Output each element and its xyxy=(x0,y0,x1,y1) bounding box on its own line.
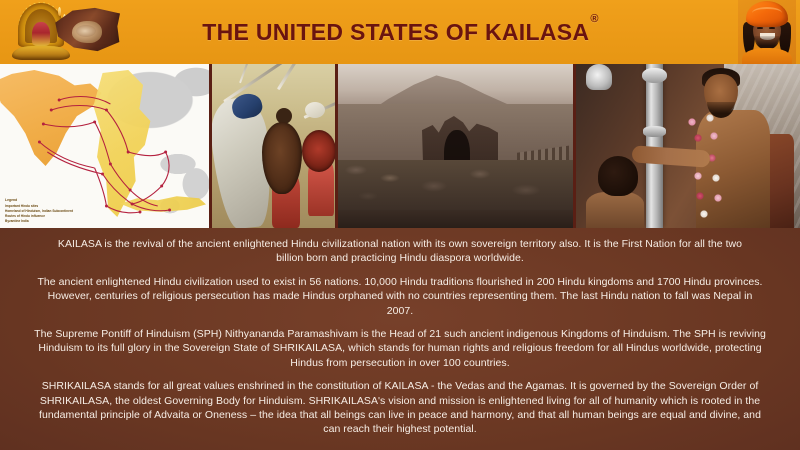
map-legend-item: Byzantine India xyxy=(5,219,73,224)
ceremonial-lamp-icon xyxy=(586,64,612,90)
portrait-robe-icon xyxy=(742,48,792,64)
slide-root: THE UNITED STATES OF KAILASA® xyxy=(0,0,800,450)
religious-persecution-battle-image xyxy=(212,64,338,228)
flower-garland-icon xyxy=(680,114,732,224)
map-legend: Legend Important Hindu sites Homeland of… xyxy=(5,198,73,224)
guru-blessing-devotee-image xyxy=(576,64,800,228)
ruins-foreground xyxy=(338,210,573,228)
image-strip: Legend Important Hindu sites Homeland of… xyxy=(0,64,800,228)
page-title: THE UNITED STATES OF KAILASA® xyxy=(202,19,597,46)
portrait-eye-icon xyxy=(757,27,763,29)
supreme-pontiff-portrait xyxy=(738,0,796,64)
paragraph-kailasa-revival: KAILASA is the revival of the ancient en… xyxy=(28,237,772,266)
portrait-eye-icon xyxy=(769,27,775,29)
shield-icon xyxy=(302,130,336,172)
registered-trademark-symbol: ® xyxy=(590,13,598,25)
body-text-section: KAILASA is the revival of the ancient en… xyxy=(0,228,800,450)
paragraph-shrikailasa-values: SHRIKAILASA stands for all great values … xyxy=(28,379,772,437)
page-title-text: THE UNITED STATES OF KAILASA xyxy=(202,19,589,45)
devotee-body-icon xyxy=(586,192,644,228)
hindu-influence-map-image: Legend Important Hindu sites Homeland of… xyxy=(0,64,212,228)
devotee-head-icon xyxy=(598,156,638,196)
map-legend-title: Legend xyxy=(5,198,73,203)
warrior-head-icon xyxy=(305,102,325,118)
destroyed-temple-ruins-image xyxy=(338,64,576,228)
ruins-rubble xyxy=(338,160,573,212)
paragraph-supreme-pontiff: The Supreme Pontiff of Hinduism (SPH) Ni… xyxy=(28,327,772,370)
slide-header: THE UNITED STATES OF KAILASA® xyxy=(0,0,800,64)
page-title-container: THE UNITED STATES OF KAILASA® xyxy=(0,0,800,64)
paragraph-ancient-civilization: The ancient enlightened Hindu civilizati… xyxy=(28,275,772,318)
